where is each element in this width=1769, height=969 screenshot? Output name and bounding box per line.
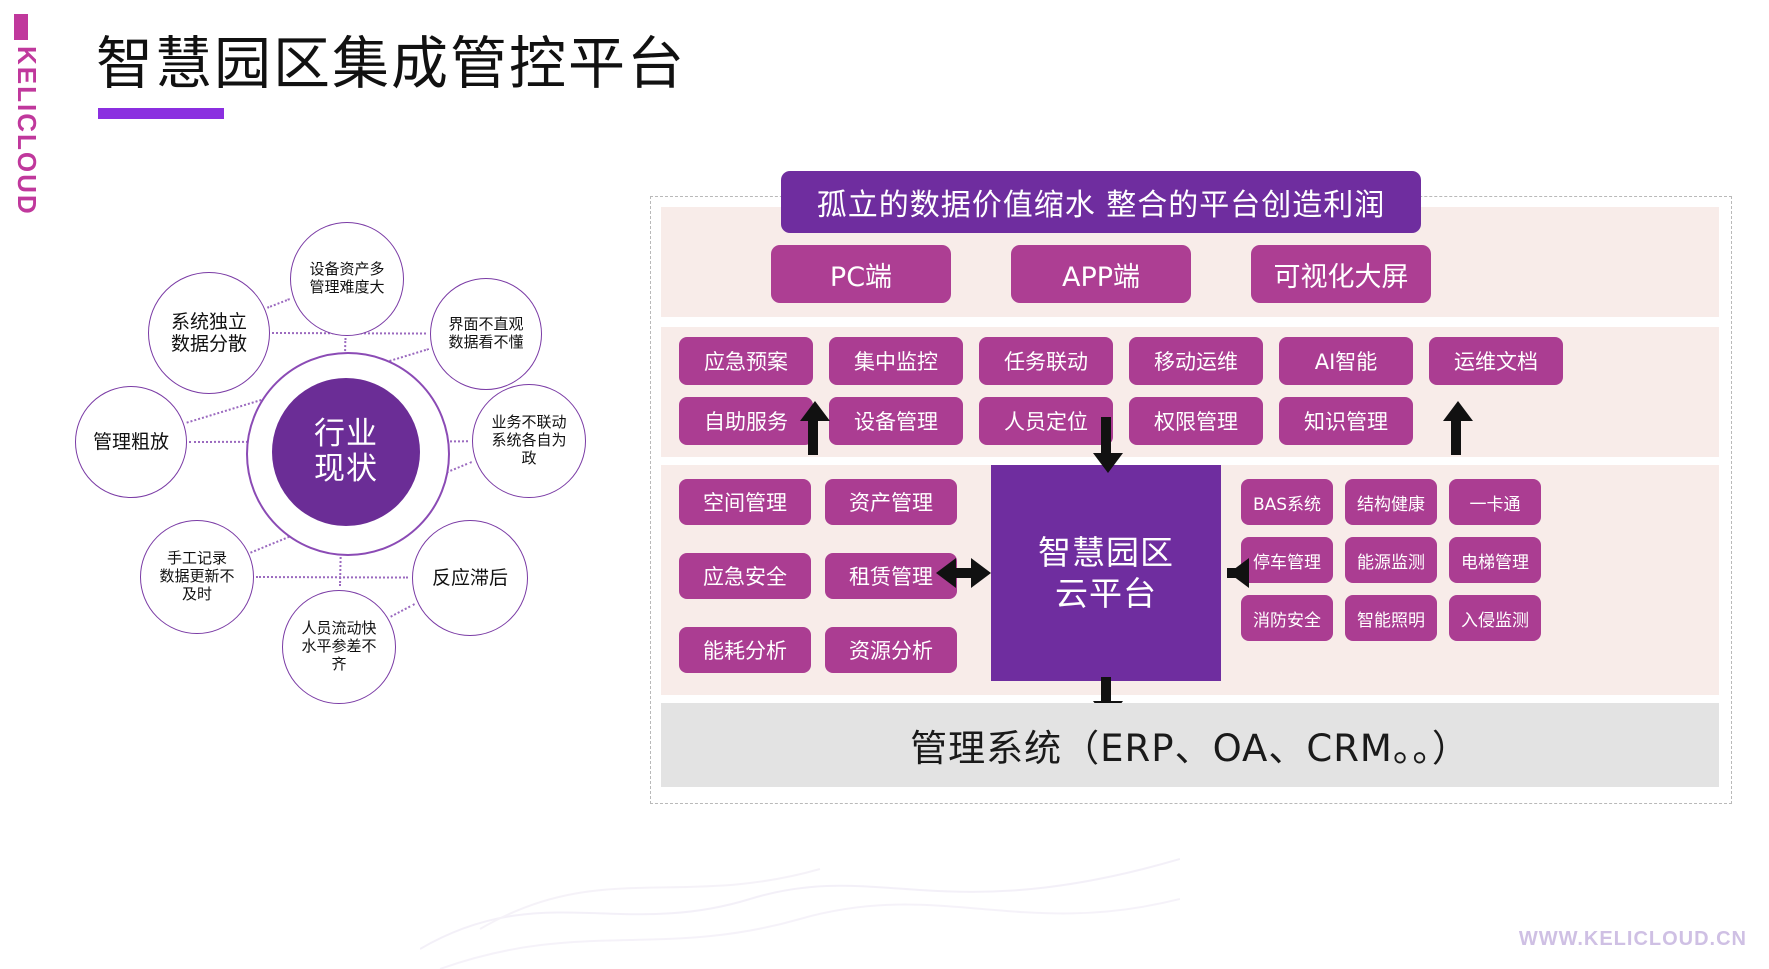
arrow-up-right	[1443, 401, 1473, 421]
function-tag-5[interactable]: AI智能	[1279, 337, 1413, 385]
arrow-right-into-core	[971, 558, 991, 588]
wheel-bubble-label: 界面不直观数据看不懂	[442, 316, 529, 351]
page-title: 智慧园区集成管控平台	[96, 18, 686, 100]
arrow-stem-right-up	[1451, 417, 1461, 455]
subsystem-tag-6[interactable]: 电梯管理	[1449, 537, 1541, 583]
architecture-diagram: 孤立的数据价值缩水 整合的平台创造利润 PC端APP端可视化大屏 应急预案集中监…	[650, 196, 1732, 804]
wheel-center: 行业 现状	[272, 378, 420, 526]
function-tag-2[interactable]: 集中监控	[829, 337, 963, 385]
channel-button-3[interactable]: 可视化大屏	[1251, 245, 1431, 303]
wheel-connector	[390, 604, 415, 618]
wheel-bubble-ui-not-intuitive: 界面不直观数据看不懂	[430, 278, 542, 390]
application-module-2[interactable]: 资产管理	[825, 479, 957, 525]
wheel-bubble-business-silo: 业务不联动系统各自为政	[472, 384, 586, 498]
subsystem-tag-1[interactable]: BAS系统	[1241, 479, 1333, 525]
channel-button-2[interactable]: APP端	[1011, 245, 1191, 303]
function-tag-4[interactable]: 移动运维	[1129, 337, 1263, 385]
platform-band: 空间管理资产管理应急安全租赁管理能耗分析资源分析 智慧园区 云平台 BAS系统结…	[661, 465, 1719, 695]
subsystem-grid: BAS系统结构健康一卡通停车管理能源监测电梯管理消防安全智能照明入侵监测	[1241, 479, 1541, 641]
subsystem-group: BAS系统结构健康一卡通停车管理能源监测电梯管理消防安全智能照明入侵监测	[1241, 479, 1541, 641]
wheel-bubble-manual-records: 手工记录数据更新不及时	[140, 520, 254, 634]
subsystem-tag-9[interactable]: 入侵监测	[1449, 595, 1541, 641]
wheel-center-line2: 现状	[314, 452, 378, 487]
wheel-bubble-equipment-assets: 设备资产多管理难度大	[290, 222, 404, 336]
footer-url: WWW.KELICLOUD.CN	[1519, 928, 1747, 951]
function-tag-b-1[interactable]: 自助服务	[679, 397, 813, 445]
wheel-bubble-label: 人员流动快水平参差不齐	[295, 620, 382, 673]
channel-button-1[interactable]: PC端	[771, 245, 951, 303]
application-module-1[interactable]: 空间管理	[679, 479, 811, 525]
subsystem-tag-2[interactable]: 结构健康	[1345, 479, 1437, 525]
wheel-bubble-label: 设备资产多管理难度大	[303, 261, 390, 296]
wheel-connector	[267, 298, 290, 309]
core-platform-line2: 云平台	[1055, 573, 1157, 614]
function-tag-6[interactable]: 运维文档	[1429, 337, 1563, 385]
function-tag-b-4[interactable]: 权限管理	[1129, 397, 1263, 445]
arrow-left-from-core	[936, 558, 956, 588]
architecture-banner: 孤立的数据价值缩水 整合的平台创造利润	[781, 171, 1421, 233]
decorative-swirl	[420, 739, 1180, 969]
function-tag-b-2[interactable]: 设备管理	[829, 397, 963, 445]
wheel-connector	[256, 576, 408, 579]
function-tag-row-1: 应急预案集中监控任务联动移动运维AI智能运维文档	[679, 337, 1563, 385]
arrow-stem-mid-down	[1101, 417, 1111, 455]
application-module-grid: 空间管理资产管理应急安全租赁管理能耗分析资源分析	[679, 479, 957, 687]
brand-logo-text: KELICLOUD	[14, 46, 40, 216]
subsystem-tag-8[interactable]: 智能照明	[1345, 595, 1437, 641]
wheel-bubble-label: 手工记录数据更新不及时	[153, 550, 240, 603]
wheel-bubble-label: 系统独立数据分散	[165, 311, 253, 356]
wheel-bubble-rough-management: 管理粗放	[75, 386, 187, 498]
arrow-stem-left-up	[808, 417, 818, 455]
application-module-6[interactable]: 资源分析	[825, 627, 957, 673]
application-module-3[interactable]: 应急安全	[679, 553, 811, 599]
application-module-5[interactable]: 能耗分析	[679, 627, 811, 673]
arrow-stem-core-down	[1101, 677, 1111, 703]
function-tag-3[interactable]: 任务联动	[979, 337, 1113, 385]
wheel-center-line1: 行业	[314, 417, 378, 452]
function-tag-band: 应急预案集中监控任务联动移动运维AI智能运维文档 自助服务设备管理人员定位权限管…	[661, 327, 1719, 457]
industry-status-wheel: 行业 现状 设备资产多管理难度大系统独立数据分散界面不直观数据看不懂管理粗放业务…	[60, 200, 660, 720]
wheel-bubble-label: 管理粗放	[87, 431, 175, 453]
subsystem-tag-3[interactable]: 一卡通	[1449, 479, 1541, 525]
brand-accent-bar	[14, 14, 28, 40]
application-module-group: 空间管理资产管理应急安全租赁管理能耗分析资源分析	[679, 479, 957, 687]
arrow-left-into-core	[1229, 558, 1249, 588]
arrow-down-mid	[1093, 453, 1123, 473]
wheel-bubble-label: 业务不联动系统各自为政	[485, 414, 572, 467]
title-underline	[98, 108, 224, 119]
function-tag-b-3[interactable]: 人员定位	[979, 397, 1113, 445]
function-tag-1[interactable]: 应急预案	[679, 337, 813, 385]
function-tag-b-5[interactable]: 知识管理	[1279, 397, 1413, 445]
wheel-bubble-label: 反应滞后	[426, 567, 514, 589]
subsystem-tag-4[interactable]: 停车管理	[1241, 537, 1333, 583]
wheel-bubble-staff-turnover: 人员流动快水平参差不齐	[282, 590, 396, 704]
wheel-bubble-slow-response: 反应滞后	[412, 520, 528, 636]
brand-logo: KELICLOUD	[14, 14, 48, 294]
core-platform-block: 智慧园区 云平台	[991, 465, 1221, 681]
core-platform-line1: 智慧园区	[1038, 532, 1174, 573]
subsystem-tag-5[interactable]: 能源监测	[1345, 537, 1437, 583]
channel-row: PC端APP端可视化大屏	[771, 245, 1431, 303]
subsystem-tag-7[interactable]: 消防安全	[1241, 595, 1333, 641]
arrow-up-left	[800, 401, 830, 421]
wheel-bubble-system-isolated: 系统独立数据分散	[148, 272, 270, 394]
